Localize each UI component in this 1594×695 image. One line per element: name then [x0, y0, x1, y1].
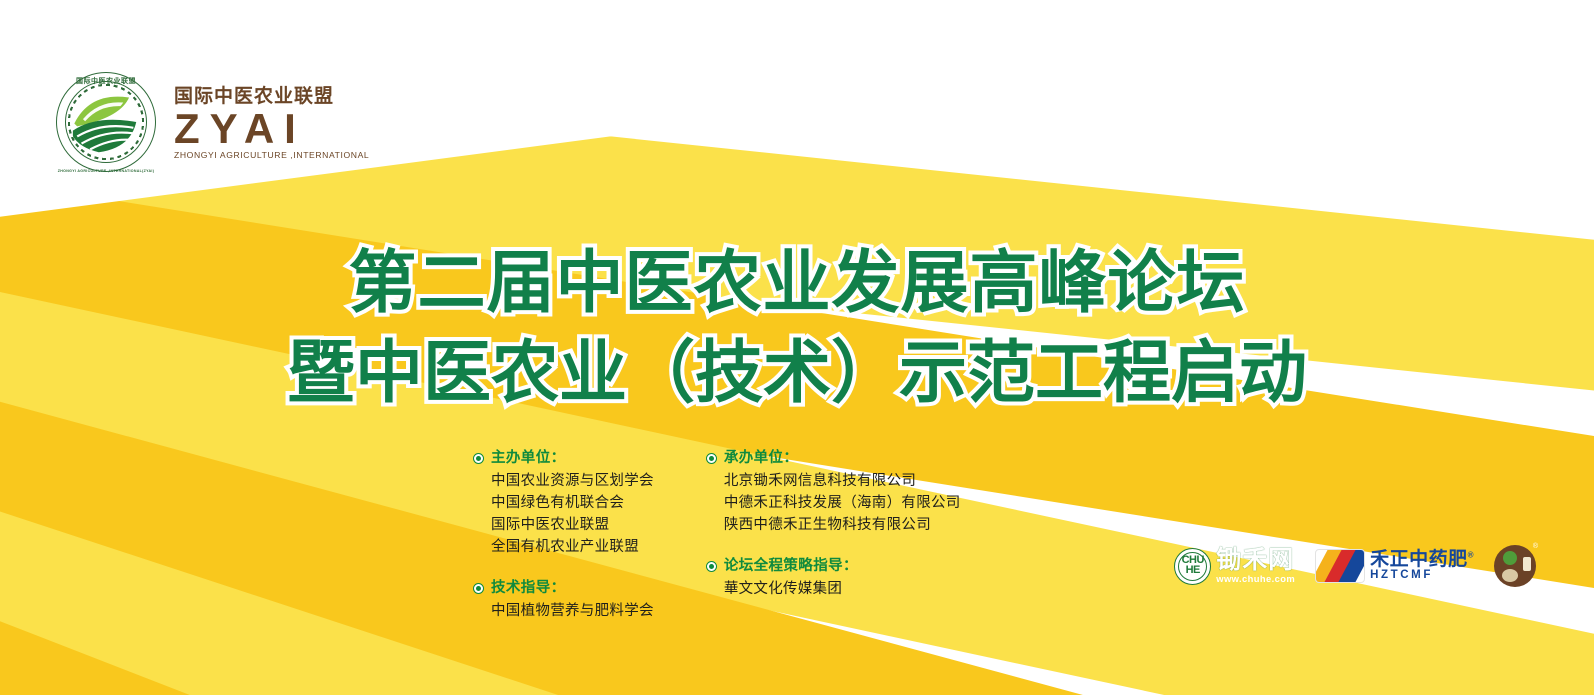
- bullet-target-icon: [473, 583, 484, 594]
- logo-name-en: ZHONGYI AGRICULTURE ,INTERNATIONAL: [174, 150, 369, 160]
- tree-root-circle-icon: ®: [1494, 545, 1536, 587]
- poster-title: 第二届中医农业发展高峰论坛 暨中医农业（技术）示范工程启动: [0, 238, 1594, 419]
- org-item: 中国农业资源与区划学会: [491, 470, 654, 492]
- org-item: 陕西中德禾正生物科技有限公司: [724, 514, 961, 536]
- org-group-heading: 论坛全程策略指导：: [706, 556, 961, 578]
- third-registered: ®: [1533, 543, 1538, 550]
- org-item: 華文文化传媒集团: [724, 578, 961, 600]
- org-group: 承办单位：北京锄禾网信息科技有限公司中德禾正科技发展（海南）有限公司陕西中德禾正…: [706, 448, 961, 536]
- org-item: 中国植物营养与肥料学会: [491, 600, 654, 622]
- org-item: 中德禾正科技发展（海南）有限公司: [724, 492, 961, 514]
- org-group: 论坛全程策略指导：華文文化传媒集团: [706, 556, 961, 600]
- org-heading-label: 承办单位：: [724, 448, 799, 470]
- org-item: 全国有机农业产业联盟: [491, 536, 654, 558]
- leaf-field-icon: [70, 86, 142, 158]
- org-item-list: 中国农业资源与区划学会中国绿色有机联合会国际中医农业联盟全国有机农业产业联盟: [491, 470, 654, 558]
- org-heading-label: 主办单位：: [491, 448, 566, 470]
- label-tab-shape: [1523, 557, 1531, 571]
- zyai-logo-text: 国际中医农业联盟 ZYAI ZHONGYI AGRICULTURE ,INTER…: [174, 84, 369, 160]
- hztcmf-registered: ®: [1468, 551, 1474, 560]
- bullet-target-icon: [706, 453, 717, 464]
- hztcmf-name-en: HZTCMF: [1370, 570, 1474, 582]
- title-line-1: 第二届中医农业发展高峰论坛: [0, 238, 1594, 328]
- org-group: 主办单位：中国农业资源与区划学会中国绿色有机联合会国际中医农业联盟全国有机农业产…: [473, 448, 654, 558]
- org-group-heading: 主办单位：: [473, 448, 654, 470]
- organizer-lists: 主办单位：中国农业资源与区划学会中国绿色有机联合会国际中医农业联盟全国有机农业产…: [473, 448, 961, 630]
- zyai-logo-block: 国际中医农业联盟 ZHONGYI AGRICULTURE ,INTERNATIO…: [52, 68, 369, 176]
- org-item-list: 北京锄禾网信息科技有限公司中德禾正科技发展（海南）有限公司陕西中德禾正生物科技有…: [724, 470, 961, 536]
- zyai-seal-logo: 国际中医农业联盟 ZHONGYI AGRICULTURE ,INTERNATIO…: [52, 68, 160, 176]
- seal-core-emblem: [70, 86, 142, 158]
- logo-acronym: ZYAI: [174, 109, 369, 149]
- hztcmf-name-cn: 禾正中药肥®: [1370, 550, 1474, 569]
- chuhe-wordmark: 锄禾网 www.chuhe.com: [1216, 548, 1295, 583]
- sponsor-logos: CHU HE 锄禾网 www.chuhe.com 禾正中药肥® HZTCMF ®: [1174, 545, 1536, 587]
- org-group-heading: 承办单位：: [706, 448, 961, 470]
- org-heading-label: 技术指导：: [491, 578, 566, 600]
- org-item-list: 華文文化传媒集团: [724, 578, 961, 600]
- tree-canopy-shape: [1503, 551, 1517, 565]
- chuhe-seal-icon: CHU HE: [1174, 548, 1211, 585]
- hztcmf-wordmark: 禾正中药肥® HZTCMF: [1370, 550, 1474, 582]
- org-item: 中国绿色有机联合会: [491, 492, 654, 514]
- org-group: 技术指导：中国植物营养与肥料学会: [473, 578, 654, 622]
- org-group-heading: 技术指导：: [473, 578, 654, 600]
- chuhe-name-cn: 锄禾网: [1216, 548, 1295, 573]
- org-item-list: 中国植物营养与肥料学会: [491, 600, 654, 622]
- seal-ring-text-bottom: ZHONGYI AGRICULTURE ,INTERNATIONAL(ZYAI): [52, 169, 160, 173]
- org-group-spacer: [473, 566, 654, 578]
- org-heading-label: 论坛全程策略指导：: [724, 556, 858, 578]
- bullet-target-icon: [706, 561, 717, 572]
- org-group-spacer: [706, 544, 961, 556]
- org-item: 国际中医农业联盟: [491, 514, 654, 536]
- org-item: 北京锄禾网信息科技有限公司: [724, 470, 961, 492]
- chuhe-mark-text: CHU HE: [1175, 556, 1210, 576]
- hztcmf-stripe-icon: [1315, 549, 1365, 583]
- chuhe-url: www.chuhe.com: [1216, 574, 1295, 583]
- poster-canvas: 国际中医农业联盟 ZHONGYI AGRICULTURE ,INTERNATIO…: [0, 0, 1594, 695]
- bullet-target-icon: [473, 453, 484, 464]
- sponsor-hztcmf: 禾正中药肥® HZTCMF: [1315, 549, 1474, 583]
- sponsor-chuhe: CHU HE 锄禾网 www.chuhe.com: [1174, 548, 1295, 585]
- seal-ring-text-top: 国际中医农业联盟: [52, 76, 160, 86]
- organizer-column-right: 承办单位：北京锄禾网信息科技有限公司中德禾正科技发展（海南）有限公司陕西中德禾正…: [706, 448, 961, 630]
- root-shape: [1502, 569, 1518, 582]
- organizer-column-left: 主办单位：中国农业资源与区划学会中国绿色有机联合会国际中医农业联盟全国有机农业产…: [473, 448, 654, 630]
- title-line-2: 暨中医农业（技术）示范工程启动: [0, 328, 1594, 418]
